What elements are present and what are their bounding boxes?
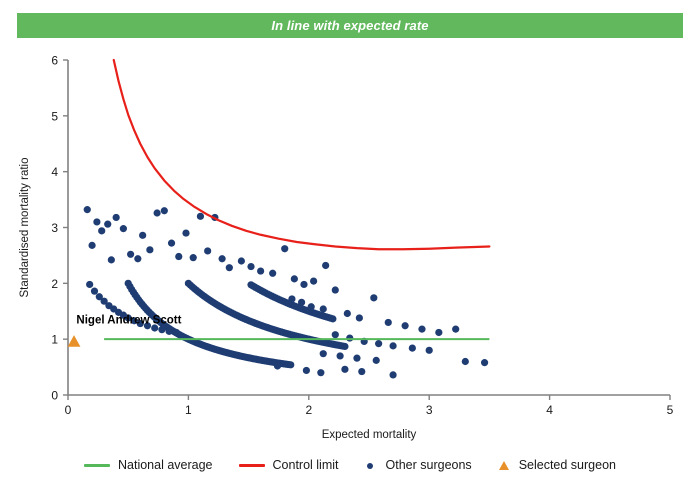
selected-surgeon-marker[interactable] bbox=[68, 335, 81, 347]
y-tick-label: 5 bbox=[51, 109, 58, 123]
scatter-point bbox=[462, 358, 469, 365]
scatter-point bbox=[389, 342, 396, 349]
scatter-point bbox=[247, 263, 254, 270]
scatter-point bbox=[166, 328, 173, 335]
legend-label: Control limit bbox=[273, 458, 339, 472]
scatter-point bbox=[320, 350, 327, 357]
chart-legend: National averageControl limitOther surge… bbox=[0, 452, 700, 478]
scatter-point bbox=[358, 368, 365, 375]
scatter-point bbox=[127, 251, 134, 258]
scatter-point bbox=[418, 326, 425, 333]
control-limit-curve bbox=[114, 60, 490, 249]
scatter-point bbox=[322, 262, 329, 269]
scatter-point bbox=[153, 209, 160, 216]
chart-annotations: Nigel Andrew Scott bbox=[76, 315, 181, 327]
y-tick-label: 3 bbox=[51, 221, 58, 235]
chart-container: 0123456 012345 Nigel Andrew Scott Expect… bbox=[0, 40, 700, 500]
scatter-point bbox=[98, 227, 105, 234]
scatter-point bbox=[88, 242, 95, 249]
scatter-point bbox=[134, 255, 141, 262]
scatter-points-other-surgeons bbox=[84, 206, 489, 378]
scatter-point bbox=[402, 322, 409, 329]
scatter-point bbox=[303, 367, 310, 374]
scatter-point bbox=[238, 257, 245, 264]
scatter-point bbox=[481, 359, 488, 366]
legend-selected-surgeon[interactable]: Selected surgeon bbox=[498, 458, 616, 472]
scatter-point bbox=[341, 343, 348, 350]
scatter-point bbox=[298, 299, 305, 306]
x-tick-label: 5 bbox=[667, 403, 674, 417]
y-tick-label: 6 bbox=[51, 54, 58, 68]
funnel-plot-page: In line with expected rate 0123456 01234… bbox=[0, 0, 700, 500]
scatter-point bbox=[385, 319, 392, 326]
legend-label: National average bbox=[118, 458, 213, 472]
scatter-point bbox=[120, 225, 127, 232]
x-tick-label: 4 bbox=[546, 403, 553, 417]
scatter-point bbox=[287, 361, 294, 368]
scatter-point bbox=[317, 369, 324, 376]
x-axis-tick-labels: 012345 bbox=[65, 403, 674, 417]
y-tick-label: 2 bbox=[51, 277, 58, 291]
scatter-point bbox=[104, 221, 111, 228]
scatter-point bbox=[113, 214, 120, 221]
scatter-point bbox=[308, 303, 315, 310]
scatter-point bbox=[375, 340, 382, 347]
funnel-plot-svg: 0123456 012345 Nigel Andrew Scott Expect… bbox=[0, 40, 700, 500]
circle-marker-icon bbox=[367, 463, 373, 469]
y-tick-label: 0 bbox=[51, 389, 58, 403]
x-tick-label: 3 bbox=[426, 403, 433, 417]
scatter-point bbox=[426, 347, 433, 354]
x-tick-label: 0 bbox=[65, 403, 72, 417]
control-limit-path bbox=[114, 60, 490, 249]
scatter-point bbox=[310, 278, 317, 285]
line-icon bbox=[239, 464, 265, 467]
legend-dot-icon bbox=[365, 459, 378, 471]
scatter-point bbox=[300, 281, 307, 288]
scatter-point bbox=[353, 355, 360, 362]
scatter-point bbox=[337, 352, 344, 359]
scatter-point bbox=[190, 254, 197, 261]
scatter-point bbox=[86, 281, 93, 288]
selected-surgeon-triangle[interactable] bbox=[68, 335, 81, 347]
scatter-point bbox=[257, 267, 264, 274]
scatter-point bbox=[175, 253, 182, 260]
legend-other-surgeons[interactable]: Other surgeons bbox=[365, 458, 472, 472]
legend-line-icon bbox=[239, 459, 265, 471]
scatter-point bbox=[158, 326, 165, 333]
scatter-point bbox=[356, 314, 363, 321]
scatter-point bbox=[332, 331, 339, 338]
status-banner: In line with expected rate bbox=[17, 13, 683, 38]
scatter-point bbox=[332, 286, 339, 293]
scatter-point bbox=[346, 334, 353, 341]
scatter-point bbox=[269, 270, 276, 277]
triangle-marker-icon bbox=[499, 461, 509, 470]
scatter-point bbox=[281, 245, 288, 252]
scatter-point bbox=[84, 206, 91, 213]
legend-triangle-icon bbox=[498, 459, 511, 471]
legend-label: Selected surgeon bbox=[519, 458, 616, 472]
y-axis-tick-labels: 0123456 bbox=[51, 54, 58, 403]
y-tick-label: 4 bbox=[51, 165, 58, 179]
scatter-point bbox=[173, 329, 180, 336]
scatter-point bbox=[182, 229, 189, 236]
scatter-point bbox=[274, 362, 281, 369]
scatter-point bbox=[226, 264, 233, 271]
scatter-point bbox=[108, 256, 115, 263]
x-tick-label: 2 bbox=[305, 403, 312, 417]
legend-label: Other surgeons bbox=[386, 458, 472, 472]
scatter-point bbox=[197, 213, 204, 220]
legend-line-icon bbox=[84, 459, 110, 471]
point-annotation-label: Nigel Andrew Scott bbox=[76, 315, 181, 327]
scatter-point bbox=[146, 246, 153, 253]
scatter-point bbox=[389, 371, 396, 378]
x-tick-label: 1 bbox=[185, 403, 192, 417]
scatter-point bbox=[370, 294, 377, 301]
scatter-point bbox=[168, 240, 175, 247]
legend-control-limit[interactable]: Control limit bbox=[239, 458, 339, 472]
y-axis-title: Standardised mortality ratio bbox=[19, 158, 31, 298]
scatter-point bbox=[93, 218, 100, 225]
scatter-point bbox=[139, 232, 146, 239]
scatter-point bbox=[219, 255, 226, 262]
scatter-point bbox=[204, 247, 211, 254]
scatter-point bbox=[341, 366, 348, 373]
status-banner-label: In line with expected rate bbox=[271, 18, 428, 33]
line-icon bbox=[84, 464, 110, 467]
legend-national-average[interactable]: National average bbox=[84, 458, 213, 472]
scatter-point bbox=[329, 315, 336, 322]
x-axis-title: Expected mortality bbox=[322, 429, 417, 441]
scatter-point bbox=[344, 310, 351, 317]
scatter-point bbox=[320, 305, 327, 312]
scatter-point bbox=[452, 326, 459, 333]
scatter-point bbox=[409, 345, 416, 352]
y-tick-label: 1 bbox=[51, 333, 58, 347]
scatter-point bbox=[373, 357, 380, 364]
scatter-point bbox=[91, 288, 98, 295]
scatter-point bbox=[435, 329, 442, 336]
scatter-point bbox=[288, 295, 295, 302]
scatter-point bbox=[161, 207, 168, 214]
scatter-point bbox=[291, 275, 298, 282]
